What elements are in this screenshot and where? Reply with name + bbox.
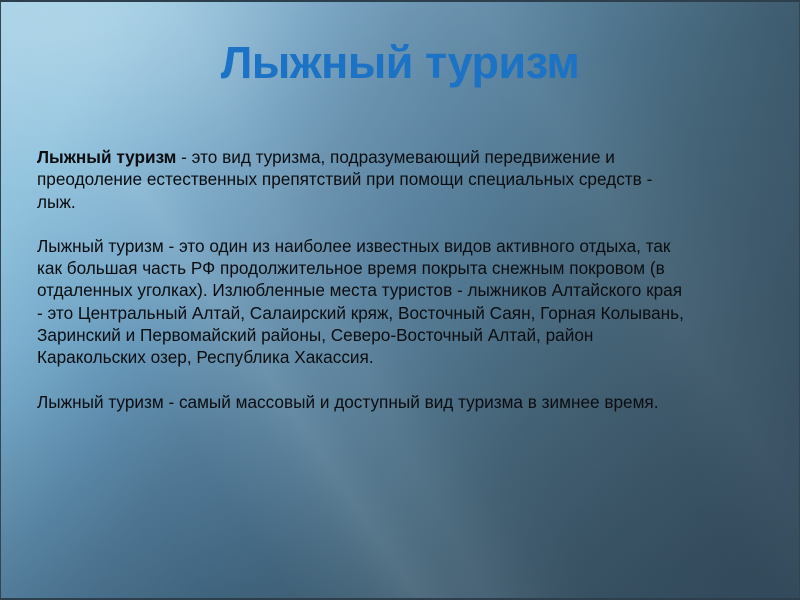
presentation-slide: Лыжный туризм Лыжный туризм - это вид ту… bbox=[0, 0, 800, 600]
paragraph-1-lead: Лыжный туризм bbox=[37, 147, 176, 167]
paragraph-3: Лыжный туризм - самый массовый и доступн… bbox=[37, 391, 685, 413]
slide-title: Лыжный туризм bbox=[1, 38, 799, 88]
paragraph-1: Лыжный туризм - это вид туризма, подразу… bbox=[37, 146, 685, 213]
paragraph-2: Лыжный туризм - это один из наиболее изв… bbox=[37, 235, 685, 369]
slide-content: Лыжный туризм Лыжный туризм - это вид ту… bbox=[1, 2, 799, 598]
slide-body: Лыжный туризм - это вид туризма, подразу… bbox=[37, 146, 685, 413]
